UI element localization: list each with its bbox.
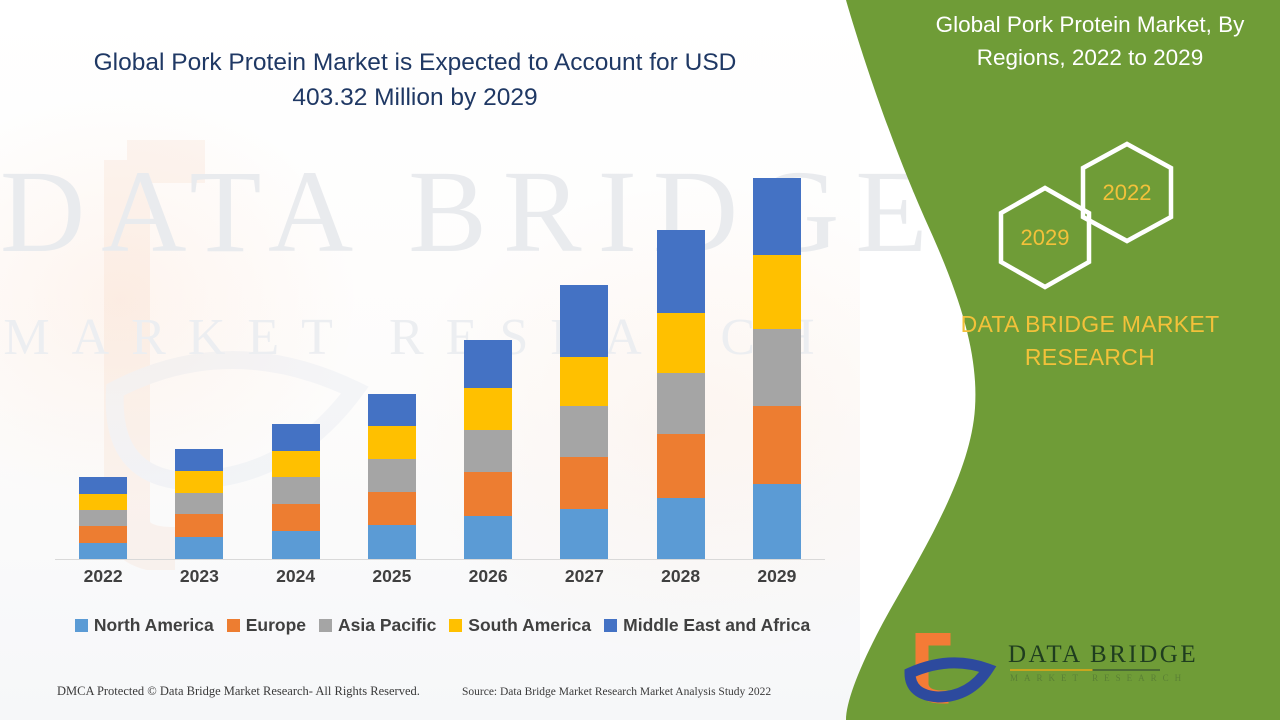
bar-segment (79, 543, 127, 559)
logo-wordmark: DATA BRIDGE (1008, 641, 1198, 669)
bar-segment (368, 394, 416, 426)
chart-title: Global Pork Protein Market is Expected t… (60, 46, 770, 116)
bar-column (441, 150, 536, 559)
bar-segment (657, 498, 705, 559)
legend-item[interactable]: North America (75, 615, 214, 636)
bar-segment (175, 514, 223, 536)
legend-swatch-icon (449, 619, 462, 632)
hex-label-2029: 2029 (1001, 225, 1089, 251)
stacked-bar (753, 178, 801, 559)
bar-segment (657, 434, 705, 497)
bar-segment (464, 340, 512, 388)
bar-column (633, 150, 728, 559)
green-panel-content: Global Pork Protein Market, By Regions, … (900, 0, 1280, 720)
bar-segment (560, 457, 608, 509)
legend-item[interactable]: Middle East and Africa (604, 615, 810, 636)
bar-segment (464, 388, 512, 430)
stacked-bar (175, 449, 223, 559)
hexagon-outlines-icon (975, 140, 1205, 295)
bar-segment (753, 178, 801, 256)
chart-legend: North AmericaEuropeAsia PacificSouth Ame… (55, 615, 830, 636)
bar-column (344, 150, 439, 559)
legend-swatch-icon (319, 619, 332, 632)
x-axis-tick-label: 2025 (344, 566, 439, 587)
stacked-bar (272, 424, 320, 559)
stacked-bar (560, 285, 608, 559)
data-bridge-mark-icon (900, 633, 1008, 705)
bar-segment (79, 510, 127, 526)
bar-segment (175, 471, 223, 492)
hexagon-graphic: 2022 2029 (975, 140, 1205, 295)
bar-column (56, 150, 151, 559)
bar-segment (657, 313, 705, 373)
bar-segment (560, 357, 608, 406)
x-axis-tick-label: 2027 (537, 566, 632, 587)
panel-brand: DATA BRIDGE MARKET RESEARCH (900, 308, 1280, 373)
bar-segment (753, 255, 801, 329)
footer-copyright: DMCA Protected © Data Bridge Market Rese… (57, 684, 420, 699)
x-axis-line (55, 559, 825, 560)
stacked-bar (79, 477, 127, 559)
legend-swatch-icon (604, 619, 617, 632)
legend-swatch-icon (227, 619, 240, 632)
panel-title: Global Pork Protein Market, By Regions, … (900, 8, 1280, 75)
x-axis-tick-label: 2029 (729, 566, 824, 587)
bar-segment (175, 449, 223, 471)
legend-label: North America (94, 615, 214, 636)
bar-segment (464, 472, 512, 516)
bar-segment (368, 459, 416, 492)
data-bridge-logo: DATA BRIDGE MARKET RESEARCH (900, 633, 1280, 705)
x-axis-tick-label: 2022 (56, 566, 151, 587)
legend-item[interactable]: Asia Pacific (319, 615, 436, 636)
bar-segment (368, 426, 416, 459)
hex-label-2022: 2022 (1083, 180, 1171, 206)
bar-segment (175, 537, 223, 559)
x-axis-tick-label: 2028 (633, 566, 728, 587)
bar-segment (560, 285, 608, 357)
bar-segment (657, 230, 705, 313)
bar-segment (368, 525, 416, 559)
bar-segment (272, 424, 320, 451)
bar-segment (560, 406, 608, 457)
stacked-bar (657, 230, 705, 559)
x-axis-tick-label: 2023 (152, 566, 247, 587)
logo-tagline: MARKET RESEARCH (1010, 673, 1187, 683)
bar-segment (657, 373, 705, 434)
bar-segment (464, 430, 512, 472)
legend-item[interactable]: Europe (227, 615, 306, 636)
logo-divider (1010, 669, 1160, 671)
bar-segment (753, 484, 801, 559)
chart-infographic: DATA BRIDGE MARKET RESEARCH Global Pork … (0, 0, 1280, 720)
bar-segment (175, 493, 223, 514)
x-axis-tick-label: 2026 (441, 566, 536, 587)
bar-segment (753, 329, 801, 406)
bar-column (537, 150, 632, 559)
bar-segment (368, 492, 416, 526)
bar-column (152, 150, 247, 559)
bar-segment (79, 477, 127, 493)
bar-segment (464, 516, 512, 559)
legend-label: Asia Pacific (338, 615, 436, 636)
legend-label: Europe (246, 615, 306, 636)
bar-segment (560, 509, 608, 559)
legend-label: South America (468, 615, 591, 636)
legend-swatch-icon (75, 619, 88, 632)
bar-column (248, 150, 343, 559)
bar-segment (272, 477, 320, 504)
bar-segment (79, 526, 127, 542)
bar-segment (272, 504, 320, 532)
stacked-bar (368, 394, 416, 559)
legend-item[interactable]: South America (449, 615, 591, 636)
bar-segment (272, 531, 320, 559)
x-axis-labels: 20222023202420252026202720282029 (55, 566, 825, 587)
legend-label: Middle East and Africa (623, 615, 810, 636)
bar-segment (753, 406, 801, 485)
stacked-bar (464, 340, 512, 559)
footer-source: Source: Data Bridge Market Research Mark… (462, 686, 771, 698)
x-axis-tick-label: 2024 (248, 566, 343, 587)
bar-segment (272, 451, 320, 478)
bar-segment (79, 494, 127, 510)
chart-plot-area (55, 150, 825, 560)
bar-column (729, 150, 824, 559)
bar-group (55, 150, 825, 559)
